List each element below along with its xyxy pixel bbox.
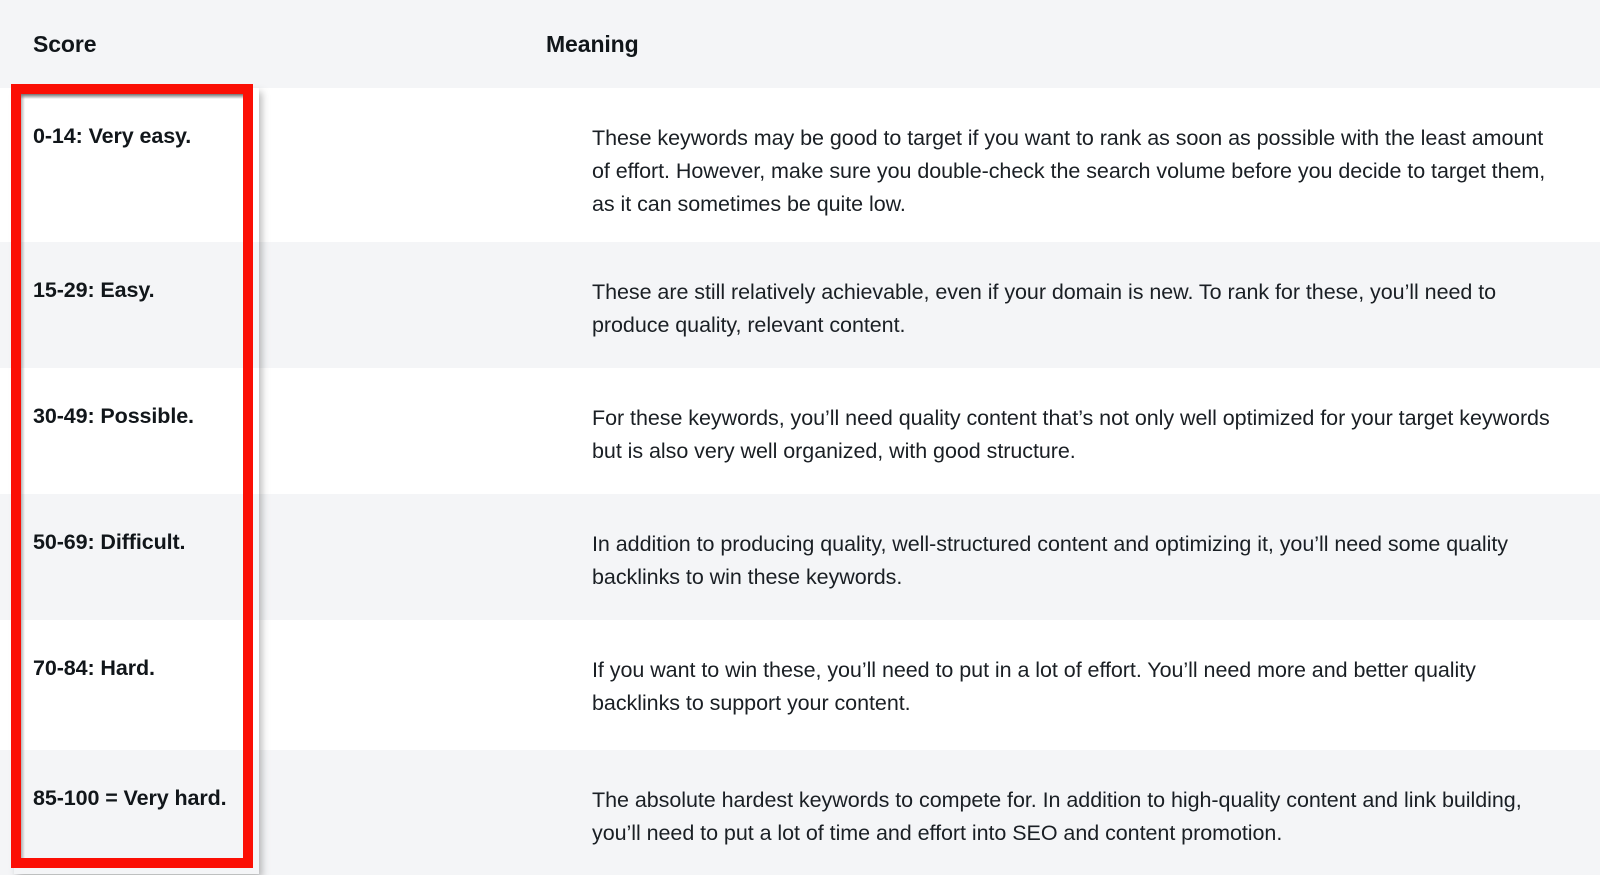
cell-score: 0-14: Very easy.	[0, 88, 546, 149]
table-body: 0-14: Very easy. These keywords may be g…	[0, 88, 1600, 875]
cell-score: 70-84: Hard.	[0, 620, 546, 681]
table-row: 15-29: Easy. These are still relatively …	[0, 242, 1600, 368]
table-row: 30-49: Possible. For these keywords, you…	[0, 368, 1600, 494]
cell-meaning: These are still relatively achievable, e…	[546, 242, 1600, 342]
column-header-meaning: Meaning	[546, 31, 639, 58]
cell-score: 30-49: Possible.	[0, 368, 546, 429]
score-meaning-table: Score Meaning 0-14: Very easy. These key…	[0, 0, 1600, 875]
cell-meaning: The absolute hardest keywords to compete…	[546, 750, 1600, 850]
cell-score: 15-29: Easy.	[0, 242, 546, 303]
table-row: 85-100 = Very hard. The absolute hardest…	[0, 750, 1600, 875]
cell-meaning: For these keywords, you’ll need quality …	[546, 368, 1600, 468]
table-row: 70-84: Hard. If you want to win these, y…	[0, 620, 1600, 750]
column-header-score: Score	[0, 31, 546, 58]
table-row: 50-69: Difficult. In addition to produci…	[0, 494, 1600, 620]
cell-meaning: These keywords may be good to target if …	[546, 88, 1600, 221]
cell-meaning: In addition to producing quality, well-s…	[546, 494, 1600, 594]
cell-meaning: If you want to win these, you’ll need to…	[546, 620, 1600, 720]
cell-score: 50-69: Difficult.	[0, 494, 546, 555]
table-row: 0-14: Very easy. These keywords may be g…	[0, 88, 1600, 242]
table-header-row: Score Meaning	[0, 0, 1600, 88]
cell-score: 85-100 = Very hard.	[0, 750, 546, 811]
